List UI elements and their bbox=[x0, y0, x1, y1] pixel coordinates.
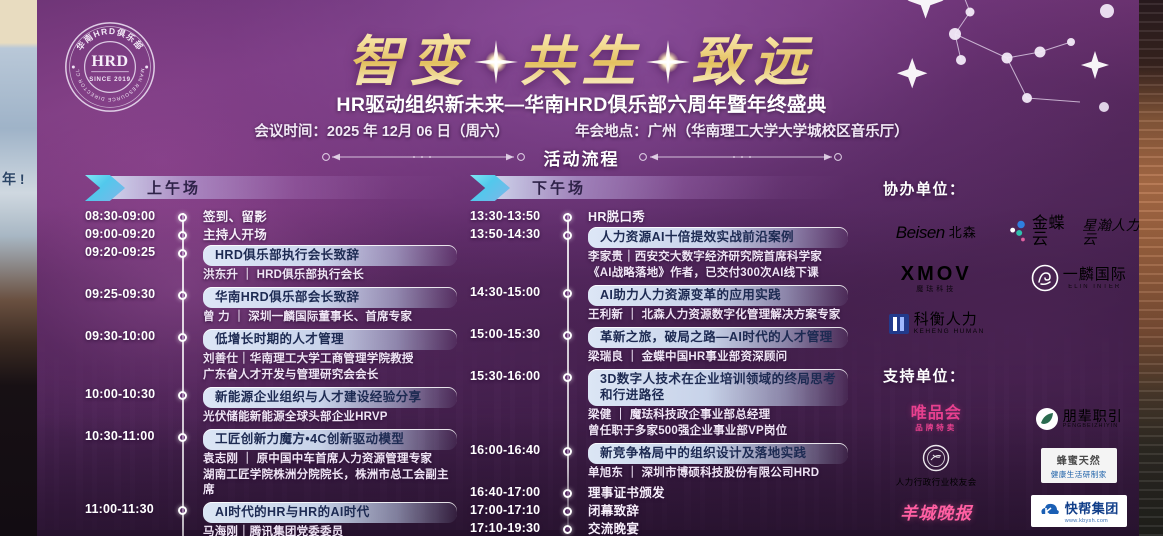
timeline-dot-icon bbox=[563, 213, 572, 222]
timeline-dot-icon bbox=[178, 249, 187, 258]
masthead: 智变 共生 bbox=[0, 0, 1163, 150]
agenda-speaker-line: 曾任职于多家500强企业事业部VP岗位 bbox=[588, 424, 848, 439]
timeline-dot-icon bbox=[563, 231, 572, 240]
agenda-session-title: 工匠创新力魔方•4C创新驱动模型 bbox=[203, 429, 457, 450]
morning-timeline: 08:30-09:00签到、留影09:00-09:20主持人开场09:20-09… bbox=[85, 209, 457, 536]
agenda-row: 17:10-19:30交流晚宴 bbox=[470, 521, 848, 536]
agenda-session-title: HRD俱乐部执行会长致辞 bbox=[203, 245, 457, 266]
agenda-row-time: 15:00-15:30 bbox=[470, 327, 558, 341]
agenda-row: 08:30-09:00签到、留影 bbox=[85, 209, 457, 226]
agenda-session-title: 3D数字人技术在企业培训领域的终局思考和行进路径 bbox=[588, 369, 848, 406]
afternoon-column: 下午场 13:30-13:50HR脱口秀13:50-14:30人力资源AI十倍提… bbox=[470, 176, 848, 536]
agenda-speaker-line: 马海刚｜腾讯集团党委委员 bbox=[203, 525, 457, 536]
association-seal-icon bbox=[922, 444, 950, 472]
agenda-session-title: 低增长时期的人才管理 bbox=[203, 329, 457, 350]
sponsor-logo-yangcheng-wanbao: 羊城晚报 bbox=[865, 488, 1008, 534]
beisen-en-text: Beisen bbox=[896, 224, 945, 241]
pengbei-sub-text: PENGBEIZHIYIN bbox=[1063, 424, 1123, 430]
hrd-club-seal-logo: 华南HRD俱乐部 HUMAN RESOURCE DIRECTOR CLUB HR… bbox=[63, 20, 157, 114]
agenda-session-title: AI助力人力资源变革的应用实践 bbox=[588, 285, 848, 306]
xmov-cn-text: 魔珐科技 bbox=[901, 286, 972, 293]
timeline-dot-icon bbox=[178, 433, 187, 442]
meta-time: 会议时间：2025 年 12月 06 日（周六） bbox=[254, 124, 509, 140]
agenda-row-plain-text: 闭幕致辞 bbox=[588, 503, 848, 520]
agenda-row: 09:30-10:00低增长时期的人才管理刘善仕｜华南理工大学工商管理学院教授广… bbox=[85, 329, 457, 383]
agenda-row-plain-text: 主持人开场 bbox=[203, 227, 457, 244]
sponsor-logo-vipshop: 唯品会 品牌特卖 bbox=[865, 396, 1008, 442]
morning-section-header: 上午场 bbox=[85, 176, 457, 202]
morning-section-label: 上午场 bbox=[147, 177, 201, 198]
agenda-row: 13:30-13:50HR脱口秀 bbox=[470, 209, 848, 226]
page-title: 智变 共生 bbox=[0, 17, 1163, 96]
fengmi-sub-text: 健康生活研制家 bbox=[1051, 469, 1107, 480]
agenda-speaker-line: 光伏储能新能源全球头部企业HRVP bbox=[203, 410, 457, 425]
agenda-row-body: HRD俱乐部执行会长致辞洪东升 ｜ HRD俱乐部执行会长 bbox=[203, 245, 457, 283]
agenda-row: 11:00-11:30AI时代的HR与HR的AI时代马海刚｜腾讯集团党委委员学习… bbox=[85, 502, 457, 536]
sponsor-logo-beisen: Beisen北森 bbox=[865, 209, 1008, 255]
agenda-row-time: 10:30-11:00 bbox=[85, 429, 173, 443]
afternoon-section-label: 下午场 bbox=[532, 177, 586, 198]
agenda-row-plain-text: 签到、留影 bbox=[203, 209, 457, 226]
agenda-row-time: 13:50-14:30 bbox=[470, 227, 558, 241]
morning-column: 上午场 08:30-09:00签到、留影09:00-09:20主持人开场09:2… bbox=[85, 176, 457, 536]
adjacent-banner-text: 年 ! bbox=[2, 172, 25, 187]
sponsor-logo-yilin-international: 一麟国际 ELIN INTER bbox=[1008, 255, 1151, 301]
kuaibang-mark-icon bbox=[1039, 502, 1061, 520]
agenda-row-time: 14:30-15:00 bbox=[470, 285, 558, 299]
agenda-row-body: 主持人开场 bbox=[203, 227, 457, 244]
agenda-speaker-line: 洪东升 ｜ HRD俱乐部执行会长 bbox=[203, 268, 457, 283]
agenda-row-body: HR脱口秀 bbox=[588, 209, 848, 226]
agenda-speaker-line: 袁志刚 ｜ 原中国中车首席人力资源管理专家 bbox=[203, 452, 457, 467]
yilin-cn-text: 一麟国际 bbox=[1063, 266, 1127, 283]
timeline-dot-icon bbox=[178, 506, 187, 515]
sponsor-logo-keheng-human: 科衡人力 KEHENG HUMAN bbox=[865, 301, 1008, 347]
agenda-speaker-line: 《AI战略落地》作者，已交付300次AI线下课 bbox=[588, 266, 848, 281]
agenda-row: 15:30-16:003D数字人技术在企业培训领域的终局思考和行进路径梁健 ｜ … bbox=[470, 369, 848, 439]
divider-rule-right bbox=[634, 152, 846, 162]
agenda-row-body: 新竞争格局中的组织设计及落地实践单旭东 ｜ 深圳市博硕科技股份有限公司HRD bbox=[588, 443, 848, 481]
agenda-divider: 活动流程 bbox=[0, 144, 1163, 170]
adjacent-banner-edge-left: 年 ! bbox=[0, 0, 37, 536]
sparkle-star-icon bbox=[474, 35, 518, 79]
meta-venue: 年会地点：广州（华南理工大学大学城校区音乐厅） bbox=[575, 124, 909, 140]
agenda-row-body: 低增长时期的人才管理刘善仕｜华南理工大学工商管理学院教授广东省人才开发与管理研究… bbox=[203, 329, 457, 383]
vipshop-cn-text: 唯品会 bbox=[911, 405, 962, 422]
title-part-1: 智变 bbox=[348, 17, 472, 96]
sponsor-logo-pengbei-zhiyin: 朋辈职引 PENGBEIZHIYIN bbox=[1008, 396, 1151, 442]
agenda-row: 14:30-15:00AI助力人力资源变革的应用实践王利新 ｜ 北森人力资源数字… bbox=[470, 285, 848, 323]
beisen-cn-text: 北森 bbox=[949, 226, 977, 239]
divider-rule-left bbox=[318, 152, 530, 162]
agenda-row-body: 新能源企业组织与人才建设经验分享光伏储能新能源全球头部企业HRVP bbox=[203, 387, 457, 425]
pengbei-leaf-icon bbox=[1035, 407, 1059, 431]
agenda-title: 活动流程 bbox=[544, 145, 620, 170]
agenda-row: 17:00-17:10闭幕致辞 bbox=[470, 503, 848, 520]
agenda-session-title: AI时代的HR与HR的AI时代 bbox=[203, 502, 457, 523]
afternoon-section-header: 下午场 bbox=[470, 176, 848, 202]
kingdee-cn-text: 金蝶云 bbox=[1032, 216, 1078, 248]
wall-edge-right bbox=[1139, 0, 1163, 536]
agenda-row: 16:00-16:40新竞争格局中的组织设计及落地实践单旭东 ｜ 深圳市博硕科技… bbox=[470, 443, 848, 481]
agenda-row-time: 11:00-11:30 bbox=[85, 502, 173, 516]
agenda-speaker-line: 湖南工匠学院株洲分院院长，株洲市总工会副主席 bbox=[203, 468, 457, 498]
timeline-dot-icon bbox=[178, 213, 187, 222]
agenda-row-time: 09:20-09:25 bbox=[85, 245, 173, 259]
agenda-speaker-line: 刘善仕｜华南理工大学工商管理学院教授 bbox=[203, 352, 457, 367]
yangcheng-cn-text: 羊城晚报 bbox=[900, 499, 972, 524]
sponsor-logo-kingdee-cloud: 金蝶云星瀚人力云 bbox=[1008, 209, 1151, 255]
agenda-row-time: 09:00-09:20 bbox=[85, 227, 173, 241]
agenda-row-body: 革新之旅，破局之路—AI时代的人才管理梁瑞良 ｜ 金蝶中国HR事业部资深顾问 bbox=[588, 327, 848, 365]
timeline-dot-icon bbox=[563, 489, 572, 498]
keheng-en-text: KEHENG HUMAN bbox=[914, 329, 985, 336]
xmov-en-text: XMOV bbox=[901, 263, 972, 285]
agenda-row: 10:30-11:00工匠创新力魔方•4C创新驱动模型袁志刚 ｜ 原中国中车首席… bbox=[85, 429, 457, 498]
agenda-speaker-line: 曾 力 ｜ 深圳一麟国际董事长、首席专家 bbox=[203, 310, 457, 325]
sponsor-logo-xmov: XMOV 魔珐科技 bbox=[865, 255, 1008, 301]
agenda-session-title: 新竞争格局中的组织设计及落地实践 bbox=[588, 443, 848, 464]
sponsor-logo-kuaibang-group: 快帮集团 www.kbysh.com bbox=[1008, 488, 1151, 534]
agenda-row-body: 工匠创新力魔方•4C创新驱动模型袁志刚 ｜ 原中国中车首席人力资源管理专家湖南工… bbox=[203, 429, 457, 498]
event-poster: 华南HRD俱乐部 HUMAN RESOURCE DIRECTOR CLUB HR… bbox=[0, 0, 1163, 536]
agenda-row-body: 人力资源AI十倍提效实战前沿案例李家贵｜西安交大数字经济研究院首席科学家《AI战… bbox=[588, 227, 848, 281]
timeline-dot-icon bbox=[563, 289, 572, 298]
agenda-row: 10:00-10:30新能源企业组织与人才建设经验分享光伏储能新能源全球头部企业… bbox=[85, 387, 457, 425]
agenda-session-title: 新能源企业组织与人才建设经验分享 bbox=[203, 387, 457, 408]
agenda-row-time: 16:40-17:00 bbox=[470, 485, 558, 499]
title-part-2: 共生 bbox=[520, 17, 644, 96]
agenda-row: 13:50-14:30人力资源AI十倍提效实战前沿案例李家贵｜西安交大数字经济研… bbox=[470, 227, 848, 281]
association-cn-text: 人力行政行业校友会 bbox=[896, 478, 977, 487]
kuaibang-cn-text: 快帮集团 bbox=[1065, 501, 1119, 516]
agenda-row-time: 08:30-09:00 bbox=[85, 209, 173, 223]
event-meta: 会议时间：2025 年 12月 06 日（周六） 年会地点：广州（华南理工大学大… bbox=[0, 120, 1163, 141]
yilin-en-text: ELIN INTER bbox=[1063, 284, 1127, 290]
agenda-row-body: 3D数字人技术在企业培训领域的终局思考和行进路径梁健 ｜ 魔珐科技政企事业部总经… bbox=[588, 369, 848, 439]
timeline-dot-icon bbox=[563, 525, 572, 534]
agenda-row-plain-text: HR脱口秀 bbox=[588, 209, 848, 226]
timeline-dot-icon bbox=[563, 507, 572, 516]
agenda-row-body: 闭幕致辞 bbox=[588, 503, 848, 520]
svg-text:SINCE 2019: SINCE 2019 bbox=[89, 76, 130, 83]
agenda-session-title: 革新之旅，破局之路—AI时代的人才管理 bbox=[588, 327, 848, 348]
timeline-dot-icon bbox=[563, 331, 572, 340]
sponsor-logo-hr-association: 人力行政行业校友会 bbox=[865, 442, 1008, 488]
agenda-session-title: 华南HRD俱乐部会长致辞 bbox=[203, 287, 457, 308]
agenda-row: 16:40-17:00理事证书颁发 bbox=[470, 485, 848, 502]
page-subtitle: HR驱动组织新未来—华南HRD俱乐部六周年暨年终盛典 bbox=[0, 88, 1163, 117]
keheng-cn-text: 科衡人力 bbox=[914, 311, 978, 328]
sponsors-section: 协办单位： Beisen北森 金蝶云星瀚人力云 bbox=[865, 178, 1150, 536]
agenda-row: 09:25-09:30华南HRD俱乐部会长致辞曾 力 ｜ 深圳一麟国际董事长、首… bbox=[85, 287, 457, 325]
agenda-row-time: 17:10-19:30 bbox=[470, 521, 558, 535]
agenda-row: 15:00-15:30革新之旅，破局之路—AI时代的人才管理梁瑞良 ｜ 金蝶中国… bbox=[470, 327, 848, 365]
agenda-row: 09:20-09:25HRD俱乐部执行会长致辞洪东升 ｜ HRD俱乐部执行会长 bbox=[85, 245, 457, 283]
agenda-row-plain-text: 理事证书颁发 bbox=[588, 485, 848, 502]
agenda-row-time: 15:30-16:00 bbox=[470, 369, 558, 383]
timeline-dot-icon bbox=[563, 447, 572, 456]
agenda-speaker-line: 王利新 ｜ 北森人力资源数字化管理解决方案专家 bbox=[588, 308, 848, 323]
agenda-row-body: 交流晚宴 bbox=[588, 521, 848, 536]
agenda-speaker-line: 梁健 ｜ 魔珐科技政企事业部总经理 bbox=[588, 408, 848, 423]
supporter-heading: 支持单位： bbox=[883, 365, 1150, 386]
agenda-row-body: AI时代的HR与HR的AI时代马海刚｜腾讯集团党委委员学习发展部总经理，互联网头… bbox=[203, 502, 457, 536]
agenda-row-time: 16:00-16:40 bbox=[470, 443, 558, 457]
agenda-row-time: 17:00-17:10 bbox=[470, 503, 558, 517]
agenda-speaker-line: 梁瑞良 ｜ 金蝶中国HR事业部资深顾问 bbox=[588, 350, 848, 365]
agenda-row-time: 09:30-10:00 bbox=[85, 329, 173, 343]
svg-text:HRD: HRD bbox=[92, 53, 129, 70]
co-organizer-heading: 协办单位： bbox=[883, 178, 1150, 199]
agenda-row-plain-text: 交流晚宴 bbox=[588, 521, 848, 536]
agenda-speaker-line: 李家贵｜西安交大数字经济研究院首席科学家 bbox=[588, 250, 848, 265]
sponsor-logo-fengmi-tianran: 蜂蜜天然 健康生活研制家 bbox=[1008, 442, 1151, 488]
agenda-row: 09:00-09:20主持人开场 bbox=[85, 227, 457, 244]
agenda-row-body: 签到、留影 bbox=[203, 209, 457, 226]
agenda-session-title: 人力资源AI十倍提效实战前沿案例 bbox=[588, 227, 848, 248]
timeline-dot-icon bbox=[178, 333, 187, 342]
keheng-mark-icon bbox=[888, 313, 910, 335]
agenda-row-body: 华南HRD俱乐部会长致辞曾 力 ｜ 深圳一麟国际董事长、首席专家 bbox=[203, 287, 457, 325]
agenda-row-body: 理事证书颁发 bbox=[588, 485, 848, 502]
fengmi-cn-text: 蜂蜜天然 bbox=[1051, 452, 1107, 467]
co-organizer-logos: Beisen北森 金蝶云星瀚人力云 XMOV 魔珐科技 bbox=[865, 209, 1150, 347]
agenda-row-time: 13:30-13:50 bbox=[470, 209, 558, 223]
supporter-logos: 唯品会 品牌特卖 朋辈职引 PENGBEIZHIYIN bbox=[865, 396, 1150, 536]
agenda-speaker-line: 单旭东 ｜ 深圳市博硕科技股份有限公司HRD bbox=[588, 466, 848, 481]
sparkle-star-icon-2 bbox=[646, 35, 690, 79]
agenda-row-time: 09:25-09:30 bbox=[85, 287, 173, 301]
afternoon-timeline: 13:30-13:50HR脱口秀13:50-14:30人力资源AI十倍提效实战前… bbox=[470, 209, 848, 536]
timeline-dot-icon bbox=[178, 391, 187, 400]
title-part-3: 致远 bbox=[692, 17, 816, 96]
pengbei-cn-text: 朋辈职引 bbox=[1063, 408, 1123, 424]
agenda-row-time: 10:00-10:30 bbox=[85, 387, 173, 401]
kuaibang-url-text: www.kbysh.com bbox=[1065, 518, 1119, 524]
vipshop-sub-text: 品牌特卖 bbox=[911, 424, 962, 432]
timeline-dot-icon bbox=[563, 373, 572, 382]
yilin-emblem-icon bbox=[1031, 264, 1059, 292]
agenda-row-body: AI助力人力资源变革的应用实践王利新 ｜ 北森人力资源数字化管理解决方案专家 bbox=[588, 285, 848, 323]
kingdee-dots-icon bbox=[1008, 219, 1029, 245]
timeline-dot-icon bbox=[178, 291, 187, 300]
timeline-dot-icon bbox=[178, 231, 187, 240]
agenda-speaker-line: 广东省人才开发与管理研究会会长 bbox=[203, 368, 457, 383]
